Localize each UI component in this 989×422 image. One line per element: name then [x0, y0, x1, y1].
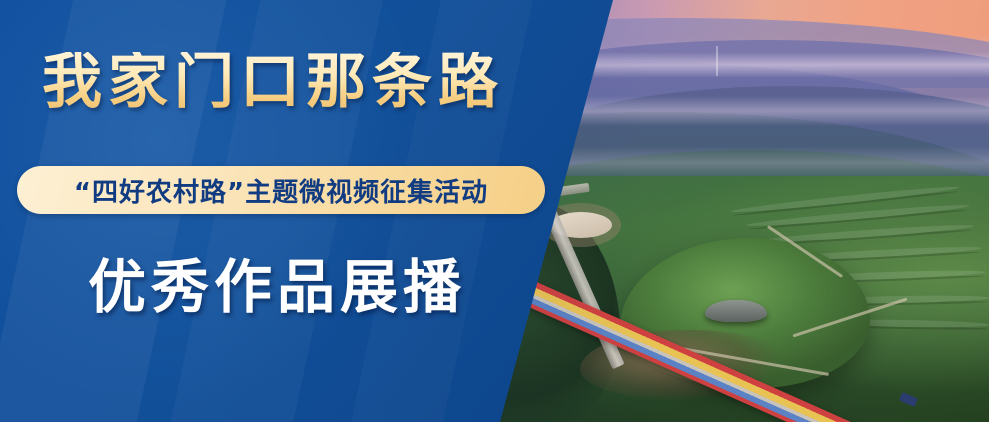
promo-banner: 我家门口那条路 “四好农村路”主题微视频征集活动 优秀作品展播	[0, 0, 989, 422]
banner-content: 我家门口那条路 “四好农村路”主题微视频征集活动 优秀作品展播	[0, 0, 620, 422]
transmission-tower-3	[716, 46, 718, 76]
banner-main-title: 我家门口那条路	[42, 52, 504, 112]
subtitle-pill: “四好农村路”主题微视频征集活动	[17, 166, 545, 214]
hilltop-pavilion	[705, 300, 767, 322]
subtitle-pill-label: “四好农村路”主题微视频征集活动	[74, 172, 488, 209]
banner-secondary-title: 优秀作品展播	[88, 258, 466, 316]
